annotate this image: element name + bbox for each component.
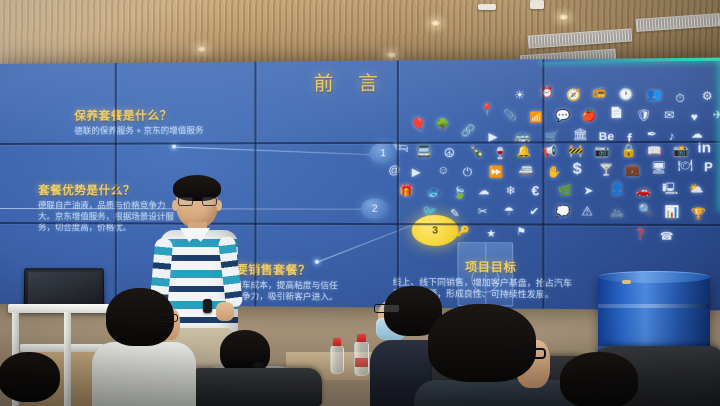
slide-block-1: 保养套餐是什么？ 德联的保养服务 + 京东的增值服务 (74, 107, 203, 137)
phone-icon: ☎ (660, 232, 674, 243)
pin-icon: 📍 (480, 105, 495, 116)
videowall-seam-vertical (397, 60, 399, 307)
videowall-seam-vertical (542, 59, 544, 309)
step-marker-1[interactable]: 1 (369, 143, 396, 164)
snowflake-icon: ❄ (506, 186, 516, 197)
bottle-body (354, 342, 369, 376)
trophy-icon: 🏆 (691, 209, 706, 221)
leaf-icon: 🌿 (557, 186, 572, 197)
downlight-icon (430, 20, 441, 27)
slide-block-1-body: 德联的保养服务 + 京东的增值服务 (74, 125, 203, 137)
step-marker-3[interactable]: 3 (412, 215, 459, 246)
step-marker-3-label: 3 (432, 225, 438, 236)
glasses-icon (512, 348, 546, 359)
audience-head (0, 352, 60, 402)
icon-cloud-collage: ☀ ⏰ 🧭 📻 🕐 👥 ⏱ ⚙ 📍 📎 📶 💬 🍎 📄 🛡 ✉ ♥ ✈ 🎈 (388, 87, 712, 274)
audience-head (560, 352, 638, 406)
euro-icon: € (531, 184, 539, 198)
question-icon: ❓ (634, 230, 648, 241)
lock-icon: 🔒 (620, 144, 636, 157)
office-chair-back (186, 368, 322, 406)
bottle-label (355, 358, 368, 368)
glasses-icon (178, 197, 217, 206)
people-icon: 👥 (647, 90, 662, 102)
umbrella-icon: ☂ (504, 207, 515, 218)
gift-icon: 🎁 (399, 186, 414, 197)
connector-dot-3 (315, 260, 319, 264)
glasses-lens (178, 197, 193, 206)
cocktail-icon: 🍸 (599, 165, 614, 177)
audience-head (428, 304, 536, 382)
tree-icon: 🌳 (435, 120, 450, 131)
screen-icon: 🖥 (651, 163, 666, 175)
airplane-icon: ✈ (713, 110, 720, 122)
glasses-icon (374, 304, 400, 313)
mail-icon: ✉ (664, 111, 674, 123)
downlight-icon (558, 14, 569, 21)
shield-icon: 🛡 (636, 111, 651, 123)
downlight-icon (386, 52, 397, 59)
camera-icon: 📸 (673, 146, 688, 158)
flag-icon: ⚑ (516, 228, 526, 238)
glasses-lens (202, 197, 217, 206)
fast-forward-icon: ⏩ (488, 167, 503, 178)
monitor-icon: 🖳 (662, 184, 678, 196)
document-icon: 📄 (610, 109, 624, 120)
audience-left-man (0, 352, 78, 406)
audience-body (414, 380, 576, 406)
wifi-icon: 📶 (529, 113, 542, 123)
paperclip-icon: 📎 (504, 111, 517, 121)
hand-icon: ✋ (547, 167, 562, 178)
bank-icon: 🏛 (573, 130, 588, 142)
presentation-clicker[interactable] (203, 299, 212, 313)
cloud-upload-icon: ☁ (478, 186, 490, 197)
drum-rib (598, 304, 710, 308)
briefcase-icon: 💼 (625, 165, 640, 177)
bottle-icon: 🍾 (469, 147, 484, 158)
step-marker-2-label: 2 (372, 203, 378, 214)
play-icon: ▶ (412, 168, 421, 179)
water-bottle[interactable] (330, 338, 344, 374)
bell-icon: 🔔 (516, 147, 531, 158)
compass-icon: 🧭 (566, 90, 581, 102)
power-icon: ⏻ (463, 167, 472, 178)
megaphone-icon: 📢 (542, 147, 557, 158)
heart-icon: ♥ (691, 112, 698, 124)
balloon-icon: 🎈 (410, 118, 427, 131)
chart-icon: 📊 (664, 207, 679, 219)
slide-goal-block: 项目目标 (465, 258, 516, 275)
audience-white-shirt-man (92, 288, 196, 406)
clock-icon: 🕐 (618, 90, 633, 102)
drum-top-rim (598, 271, 710, 283)
paper-plane-icon: ➤ (583, 186, 593, 197)
drum-bung-plug (622, 280, 631, 284)
star-icon: ★ (486, 230, 496, 240)
leaf-icon: 🍃 (452, 188, 467, 199)
dollar-icon: $ (573, 161, 582, 177)
parking-icon: P (704, 161, 713, 174)
step-marker-1-label: 1 (380, 147, 386, 158)
connector-line-1 (174, 147, 378, 156)
audience-right-man (560, 352, 670, 406)
car-icon: 🚗 (636, 186, 651, 198)
peace-icon: ☮ (444, 147, 455, 159)
bottle-body (330, 346, 344, 374)
wine-glass-icon: 🍷 (493, 149, 508, 160)
scissors-icon: ✂ (478, 207, 488, 218)
stopwatch-icon: ⏱ (675, 94, 684, 106)
chat-icon: 💬 (555, 111, 570, 123)
audience-body (92, 342, 196, 406)
chat-icon: 💭 (555, 207, 570, 218)
glasses-icon (156, 314, 178, 322)
step-marker-2[interactable]: 2 (361, 198, 388, 219)
ceiling-projector-mount (530, 0, 544, 9)
conference-room-scene: 前 言 ☀ ⏰ 🧭 📻 🕐 👥 ⏱ ⚙ 📍 📎 📶 💬 🍎 📄 🛡 ✉ ♥ (0, 0, 720, 406)
audience-foreground-man (420, 304, 570, 406)
search-icon: 🔍 (638, 205, 653, 217)
user-icon: 👤 (610, 184, 625, 196)
camera-icon: 📷 (594, 146, 609, 158)
radio-icon: 📻 (592, 88, 606, 99)
apple-icon: 🍎 (581, 111, 596, 123)
gear-icon: ⚙ (702, 91, 713, 103)
warning-icon: ⚠ (581, 205, 593, 218)
book-icon: 📖 (647, 146, 662, 158)
presenter-right-hand (216, 302, 234, 321)
link-icon: 🔗 (461, 126, 476, 137)
restaurant-icon: 🍽 (678, 161, 693, 173)
connector-dot-1 (172, 144, 176, 148)
pen-icon: ✒ (647, 129, 657, 141)
bus-icon: 🚍 (416, 145, 432, 157)
car-icon: 🚐 (519, 165, 534, 176)
smiley-icon: ☺ (437, 165, 449, 176)
bicycle-icon: 🚲 (610, 207, 625, 219)
sun-cloud-icon: ⛅ (689, 184, 704, 196)
ceiling-sensor (478, 4, 496, 10)
videowall-seam-vertical (254, 62, 256, 307)
fish-icon: 🐟 (427, 188, 442, 199)
sun-icon: ☀ (514, 90, 525, 101)
slide-block-1-heading: 保养套餐是什么？ (74, 107, 203, 124)
slide-goal-heading: 项目目标 (465, 258, 516, 275)
check-icon: ✔ (529, 207, 539, 218)
videowall-seam-vertical (115, 63, 117, 305)
traffic-cone-icon: 🚧 (568, 146, 583, 158)
downlight-icon (196, 46, 207, 53)
water-bottle[interactable] (354, 334, 369, 376)
